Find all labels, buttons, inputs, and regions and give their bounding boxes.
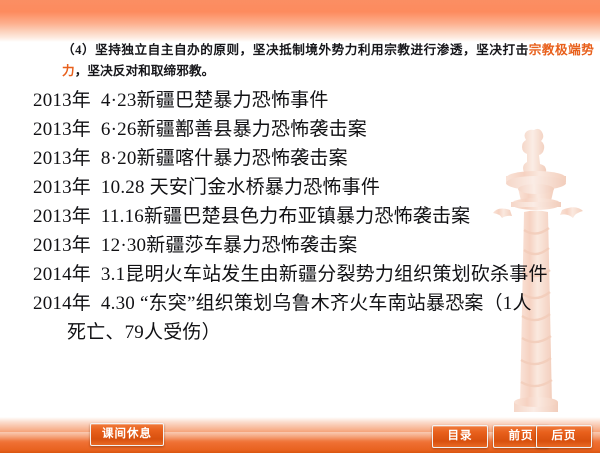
event-date: 12·30: [101, 235, 146, 256]
event-text: 新疆喀什暴力恐怖袭击案: [137, 148, 348, 169]
event-text: 新疆巴楚暴力恐怖事件: [137, 90, 329, 111]
event-text: “东突”组织策划乌鲁木齐火车南站暴恐案（1人: [140, 293, 532, 314]
event-year: 2013年: [33, 235, 91, 256]
list-item: 2013年 8·20新疆喀什暴力恐怖袭击案: [33, 144, 593, 173]
slide-canvas: （4）坚持独立自主自办的原则，坚决抵制境外势力利用宗教进行渗透，坚决打击宗教极端…: [0, 0, 600, 453]
lead-prefix: （4）坚持独立自主自办的原则，坚决抵制境外势力利用宗教进行渗透，坚决打击: [62, 43, 529, 57]
event-date: 4.30: [101, 293, 135, 314]
event-year: 2014年: [33, 293, 91, 314]
event-year: 2013年: [33, 119, 91, 140]
event-list: 2013年 4·23新疆巴楚暴力恐怖事件 2013年 6·26新疆鄯善县暴力恐怖…: [33, 86, 593, 347]
table-of-contents-button[interactable]: 目录: [432, 425, 488, 448]
next-page-button[interactable]: 后页: [536, 425, 592, 448]
event-year: 2013年: [33, 177, 91, 198]
break-button[interactable]: 课间休息: [90, 423, 164, 446]
event-date: 6·26: [101, 119, 137, 140]
event-date: 8·20: [101, 148, 137, 169]
list-item: 2013年 10.28 天安门金水桥暴力恐怖事件: [33, 173, 593, 202]
list-item: 2013年 4·23新疆巴楚暴力恐怖事件: [33, 86, 593, 115]
event-text: 新疆鄯善县暴力恐怖袭击案: [137, 119, 367, 140]
event-date: 4·23: [101, 90, 137, 111]
event-date: 11.16: [101, 206, 144, 227]
slide-content: （4）坚持独立自主自办的原则，坚决抵制境外势力利用宗教进行渗透，坚决打击宗教极端…: [0, 0, 600, 453]
lead-paragraph: （4）坚持独立自主自办的原则，坚决抵制境外势力利用宗教进行渗透，坚决打击宗教极端…: [62, 40, 594, 82]
list-item-continuation: 死亡、79人受伤）: [33, 318, 593, 347]
list-item: 2013年 12·30新疆莎车暴力恐怖袭击案: [33, 231, 593, 260]
event-date: 10.28: [101, 177, 145, 198]
event-text: 天安门金水桥暴力恐怖事件: [150, 177, 380, 198]
event-year: 2014年: [33, 264, 91, 285]
lead-suffix: ，坚决反对和取缔邪教。: [75, 64, 215, 78]
event-year: 2013年: [33, 148, 91, 169]
list-item: 2013年 11.16新疆巴楚县色力布亚镇暴力恐怖袭击案: [33, 202, 593, 231]
event-text: 昆明火车站发生由新疆分裂势力组织策划砍杀事件: [125, 264, 547, 285]
event-year: 2013年: [33, 206, 91, 227]
event-date: 3.1: [101, 264, 125, 285]
list-item: 2014年 4.30 “东突”组织策划乌鲁木齐火车南站暴恐案（1人: [33, 289, 593, 318]
list-item: 2013年 6·26新疆鄯善县暴力恐怖袭击案: [33, 115, 593, 144]
event-text: 新疆莎车暴力恐怖袭击案: [146, 235, 357, 256]
event-year: 2013年: [33, 90, 91, 111]
list-item: 2014年 3.1昆明火车站发生由新疆分裂势力组织策划砍杀事件: [33, 260, 593, 289]
event-text: 新疆巴楚县色力布亚镇暴力恐怖袭击案: [144, 206, 470, 227]
